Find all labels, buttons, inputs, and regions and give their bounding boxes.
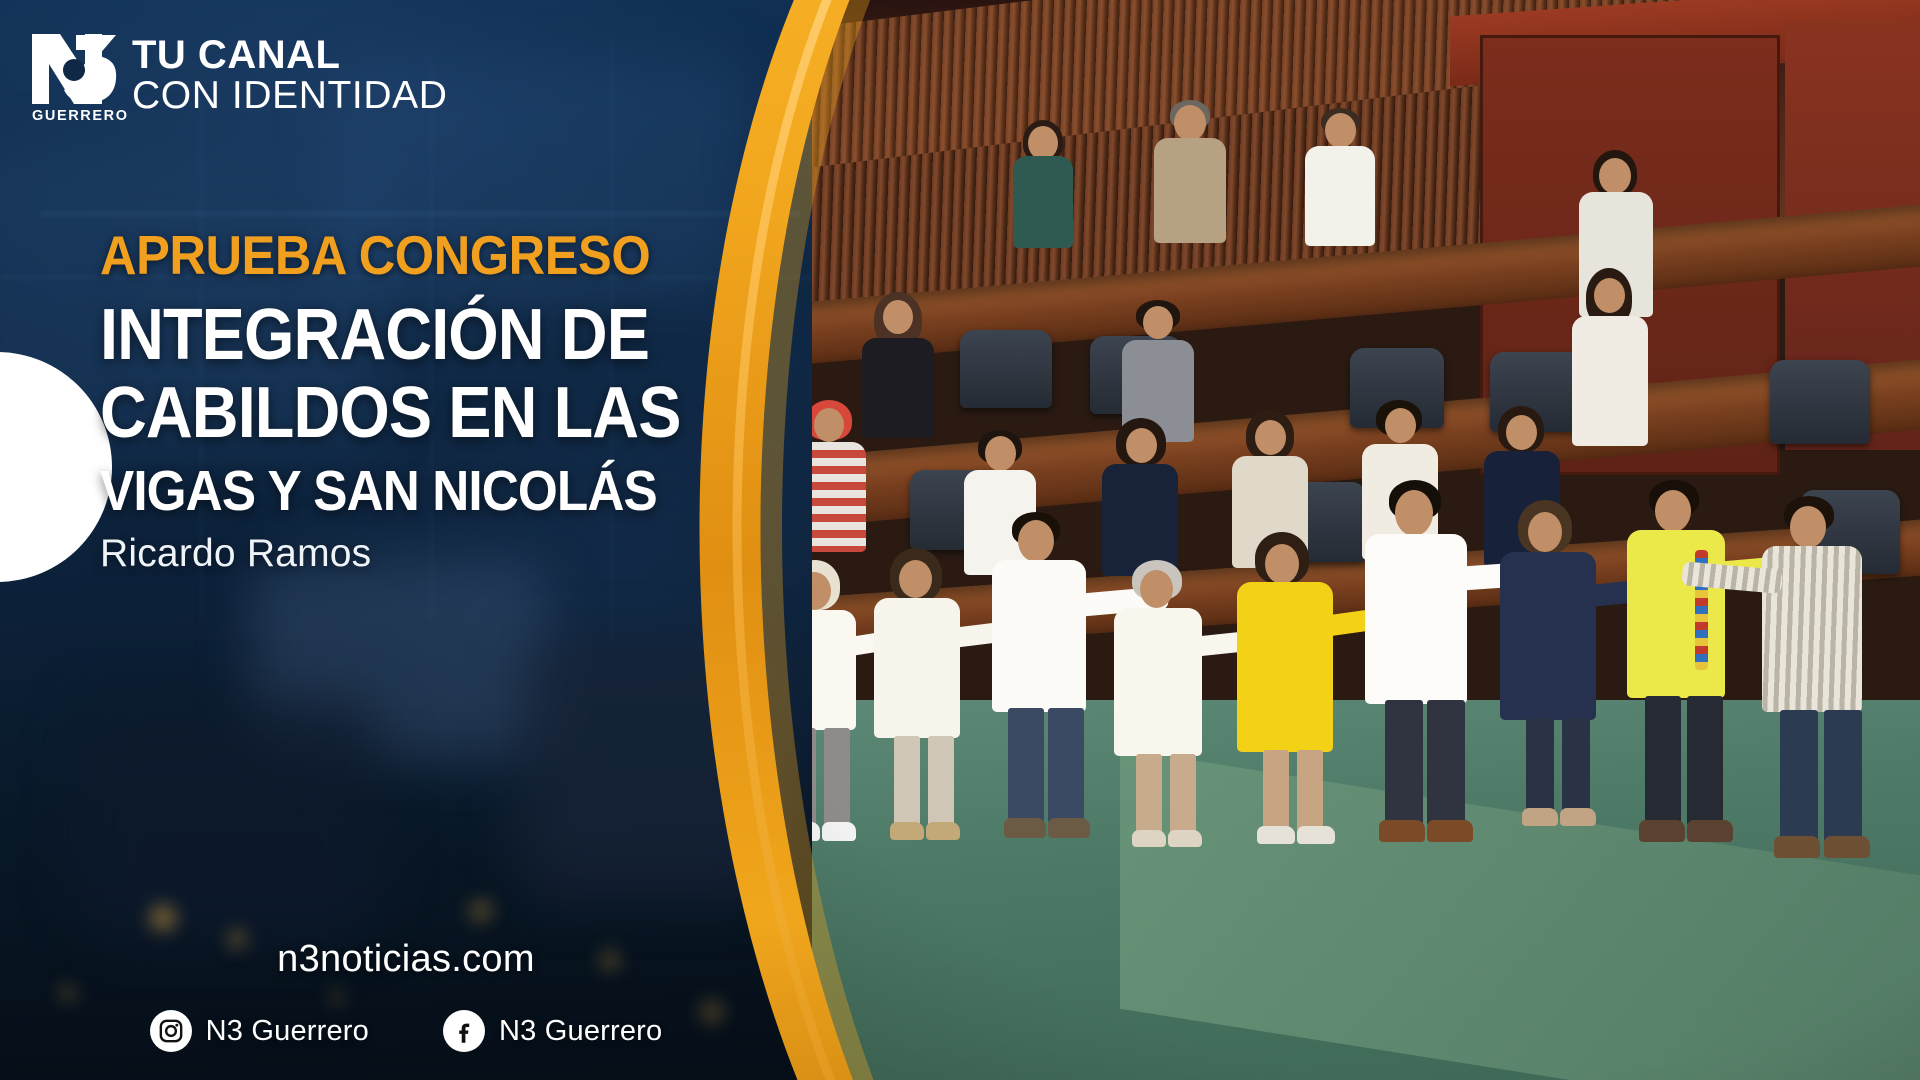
instagram-handle: N3 Guerrero (206, 1015, 369, 1048)
logo-subtitle: GUERRERO (32, 108, 118, 124)
reporter-byline: Ricardo Ramos (100, 532, 812, 576)
facebook-icon (443, 1010, 485, 1052)
headline-kicker: APRUEBA CONGRESO (100, 228, 762, 283)
tagline-line-2: CON IDENTIDAD (132, 75, 447, 117)
instagram-icon (150, 1010, 192, 1052)
tagline-line-1: TU CANAL (132, 36, 447, 75)
news-photo (790, 0, 1920, 1080)
website-url: n3noticias.com (0, 938, 812, 981)
facebook-handle: N3 Guerrero (499, 1015, 662, 1048)
social-links: N3 Guerrero N3 Guerrero (0, 1010, 812, 1052)
news-lower-third-graphic: GUERRERO TU CANAL CON IDENTIDAD APRUEBA … (0, 0, 1920, 1080)
headline-line-1: INTEGRACIÓN DE (100, 301, 748, 369)
channel-logo: GUERRERO TU CANAL CON IDENTIDAD (30, 32, 447, 122)
left-title-panel: GUERRERO TU CANAL CON IDENTIDAD APRUEBA … (0, 0, 812, 1080)
headline-line-3: VIGAS Y SAN NICOLÁS (100, 464, 748, 518)
social-instagram[interactable]: N3 Guerrero (150, 1010, 369, 1052)
headline-block: APRUEBA CONGRESO INTEGRACIÓN DE CABILDOS… (100, 228, 812, 576)
headline-line-2: CABILDOS EN LAS (100, 379, 748, 447)
social-facebook[interactable]: N3 Guerrero (443, 1010, 662, 1052)
n3-logo-icon: GUERRERO (30, 32, 118, 122)
